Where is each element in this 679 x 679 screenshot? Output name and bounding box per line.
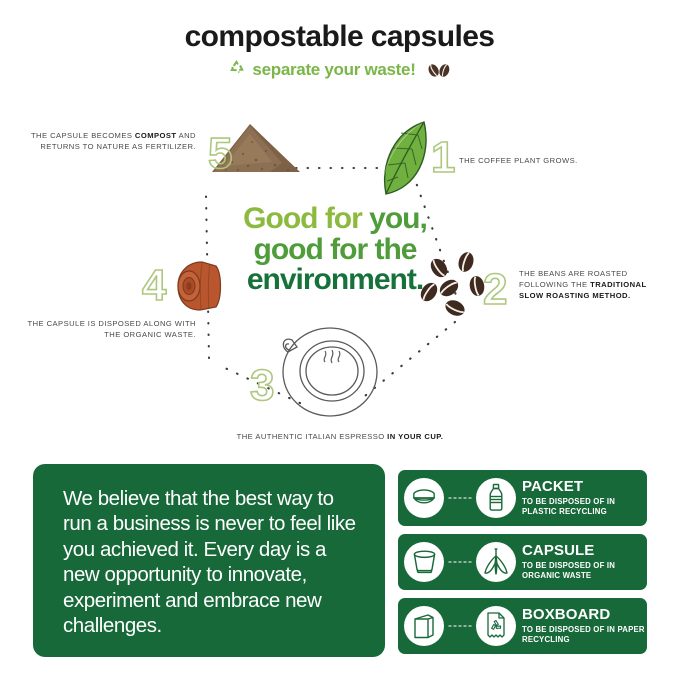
page-title: compostable capsules [0, 22, 679, 52]
packet-sub-bold: PLASTIC RECYCLING [522, 507, 607, 516]
boxboard-sub-bold: PAPER [617, 625, 644, 634]
coffee-capsule-icon [404, 542, 444, 582]
step-number-2: 2 [483, 265, 507, 314]
slogan-part-3: good for the [215, 235, 455, 266]
lifecycle-diagram: 5 1 [0, 100, 679, 455]
step-label-1: THE COFFEE PLANT GROWS. [459, 155, 659, 166]
capsule-text: CAPSULE TO BE DISPOSED OF IN ORGANIC WAS… [516, 543, 615, 581]
link-dots [447, 625, 473, 627]
slogan-part-1: Good for [243, 202, 369, 235]
quote-box: We believe that the best way to run a bu… [33, 464, 385, 657]
plastic-bottle-icon [476, 478, 516, 518]
link-dots [447, 561, 473, 563]
header: compostable capsules separate your waste… [0, 22, 679, 82]
step-number-4: 4 [142, 261, 167, 310]
boxboard-icon-pair [404, 606, 516, 646]
disposal-card-packet[interactable]: PACKET TO BE DISPOSED OF IN PLASTIC RECY… [398, 470, 647, 526]
step-label-2: THE BEANS ARE ROASTED FOLLOWING THE TRAD… [519, 268, 669, 301]
boxboard-title: BOXBOARD [522, 607, 647, 623]
boxboard-text: BOXBOARD TO BE DISPOSED OF IN PAPER RECY… [516, 607, 647, 645]
link-dots [447, 497, 473, 499]
step-3-text-bold: IN YOUR CUP. [387, 432, 443, 441]
box-carton-icon [404, 606, 444, 646]
capsule-sub-bold: ORGANIC WASTE [522, 571, 591, 580]
step-1-text: THE COFFEE PLANT GROWS. [459, 156, 578, 165]
capsule-sub-pre: TO BE DISPOSED OF IN [522, 561, 615, 570]
capsule-icon-pair [404, 542, 516, 582]
espresso-cup-icon [283, 328, 377, 416]
leaf-icon [382, 122, 426, 194]
step-number-3: 3 [250, 361, 274, 410]
boxboard-subtitle: TO BE DISPOSED OF IN PAPER RECYCLING [522, 625, 647, 645]
banana-peel-icon [476, 542, 516, 582]
packet-title: PACKET [522, 479, 615, 495]
subtitle-row: separate your waste! [0, 58, 679, 82]
disposal-card-boxboard[interactable]: BOXBOARD TO BE DISPOSED OF IN PAPER RECY… [398, 598, 647, 654]
step-label-5: THE CAPSULE BECOMES COMPOST AND RETURNS … [14, 130, 196, 152]
capsule-subtitle: TO BE DISPOSED OF IN ORGANIC WASTE [522, 561, 615, 581]
boxboard-sub-pre: TO BE DISPOSED OF IN [522, 625, 617, 634]
step-5-text-bold: COMPOST [135, 131, 177, 140]
center-slogan: Good for you, good for the environment. [215, 204, 455, 296]
packet-text: PACKET TO BE DISPOSED OF IN PLASTIC RECY… [516, 479, 615, 517]
step-number-5: 5 [208, 129, 232, 178]
step-label-4: THE CAPSULE IS DISPOSED ALONG WITH THE O… [14, 318, 196, 340]
slogan-part-4: environment. [215, 265, 455, 296]
recycle-icon [227, 58, 246, 82]
coffee-bean-icon [426, 61, 452, 80]
boxboard-sub-post: RECYCLING [522, 635, 570, 644]
step-4-text: THE CAPSULE IS DISPOSED ALONG WITH THE O… [28, 319, 196, 339]
disposal-cards: PACKET TO BE DISPOSED OF IN PLASTIC RECY… [398, 470, 647, 654]
capsule-title: CAPSULE [522, 543, 615, 559]
step-label-3: THE AUTHENTIC ITALIAN ESPRESSO IN YOUR C… [190, 431, 490, 442]
subtitle: separate your waste! [252, 60, 415, 80]
step-5-text-pre: THE CAPSULE BECOMES [31, 131, 135, 140]
step-3-text-pre: THE AUTHENTIC ITALIAN ESPRESSO [237, 432, 388, 441]
packet-subtitle: TO BE DISPOSED OF IN PLASTIC RECYCLING [522, 497, 615, 517]
slogan-part-2: you, [369, 202, 427, 235]
step-number-1: 1 [431, 133, 455, 182]
paper-recycling-icon [476, 606, 516, 646]
packet-sub-pre: TO BE DISPOSED OF IN [522, 497, 615, 506]
disposal-card-capsule[interactable]: CAPSULE TO BE DISPOSED OF IN ORGANIC WAS… [398, 534, 647, 590]
quote-text: We believe that the best way to run a bu… [63, 486, 359, 638]
packet-icon-pair [404, 478, 516, 518]
packet-pouch-icon [404, 478, 444, 518]
infographic-page: compostable capsules separate your waste… [0, 0, 679, 679]
